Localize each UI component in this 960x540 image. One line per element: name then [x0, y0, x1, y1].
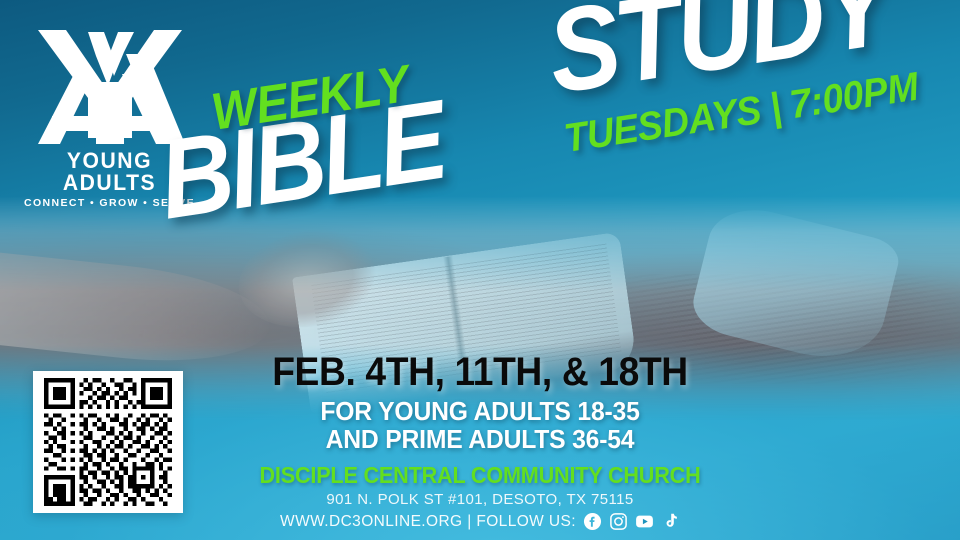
tiktok-icon[interactable]: [661, 512, 680, 531]
website-follow-text: WWW.DC3ONLINE.ORG | FOLLOW US:: [280, 513, 576, 531]
facebook-icon[interactable]: [583, 512, 602, 531]
event-dates: FEB. 4TH, 11TH, & 18TH: [34, 350, 927, 395]
church-address: 901 N. POLK ST #101, DESOTO, TX 75115: [0, 491, 960, 508]
audience-info: FOR YOUNG ADULTS 18-35 AND PRIME ADULTS …: [24, 398, 936, 454]
instagram-icon[interactable]: [609, 512, 628, 531]
flyer-canvas: YOUNG ADULTS CONNECT • GROW • SERVE BIBL…: [0, 0, 960, 540]
church-name: DISCIPLE CENTRAL COMMUNITY CHURCH: [29, 462, 931, 489]
audience-line-1: FOR YOUNG ADULTS 18-35: [24, 398, 936, 426]
website-and-socials: WWW.DC3ONLINE.ORG | FOLLOW US:: [0, 512, 960, 531]
audience-line-2: AND PRIME ADULTS 36-54: [24, 426, 936, 454]
youtube-icon[interactable]: [635, 512, 654, 531]
